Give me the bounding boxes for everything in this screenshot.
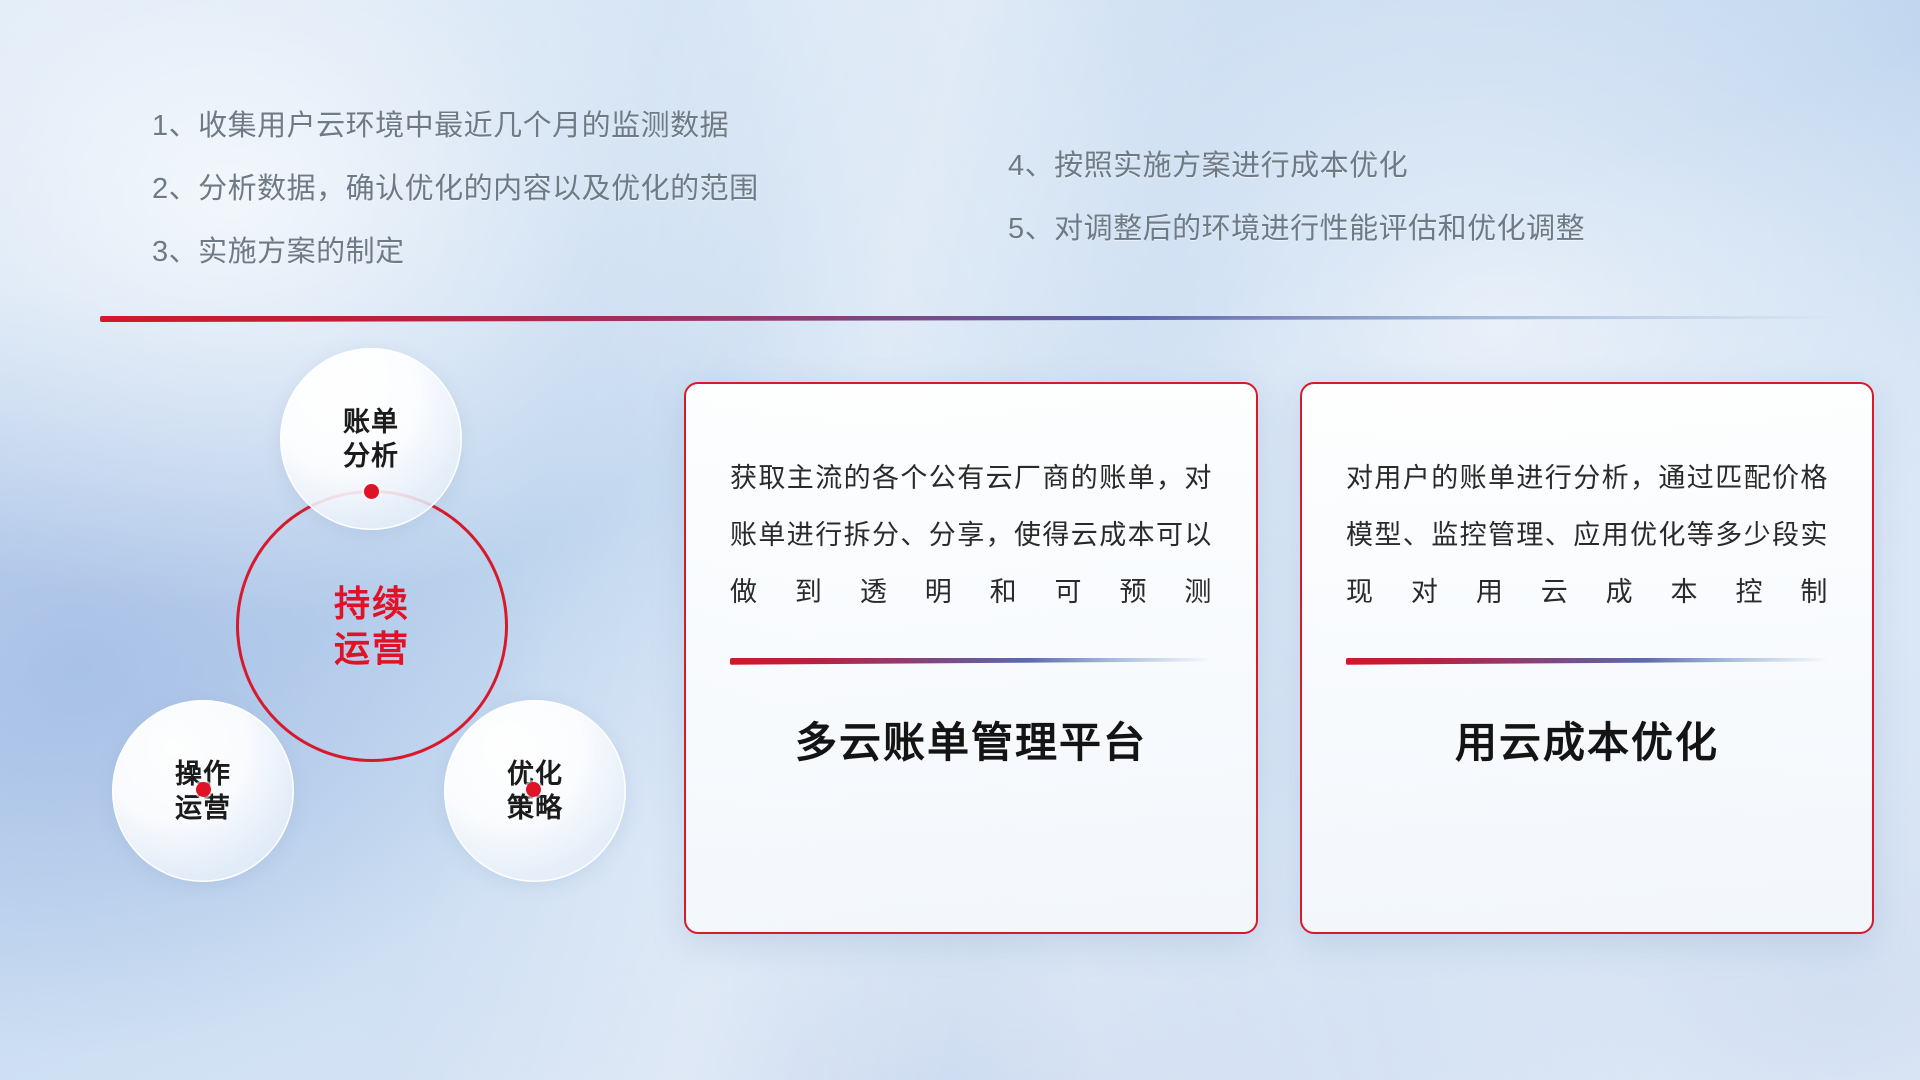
node-label-line1: 账单 bbox=[343, 405, 399, 439]
diagram-node-dot-left bbox=[196, 782, 211, 797]
continuous-operation-diagram: 持续 运营 账单 分析 操作 运营 优化 策略 bbox=[96, 348, 656, 948]
card-divider-rule bbox=[1346, 658, 1828, 665]
card-divider-rule bbox=[730, 658, 1212, 665]
slide-canvas: 1、收集用户云环境中最近几个月的监测数据 2、分析数据，确认优化的内容以及优化的… bbox=[0, 0, 1920, 1080]
step-item: 5、对调整后的环境进行性能评估和优化调整 bbox=[1008, 215, 1585, 244]
card-title: 用云成本优化 bbox=[1346, 709, 1828, 770]
steps-right-column: 4、按照实施方案进行成本优化 5、对调整后的环境进行性能评估和优化调整 bbox=[1008, 152, 1585, 278]
card-multi-cloud-billing[interactable]: 获取主流的各个公有云厂商的账单，对账单进行拆分、分享，使得云成本可以做到透明和可… bbox=[684, 382, 1258, 934]
card-title: 多云账单管理平台 bbox=[730, 709, 1212, 770]
header-divider-rule bbox=[100, 316, 1840, 322]
center-label-line1: 持续 bbox=[334, 581, 410, 626]
card-body-text: 对用户的账单进行分析，通过匹配价格模型、监控管理、应用优化等多少段实现对用云成本… bbox=[1346, 450, 1828, 622]
step-item: 3、实施方案的制定 bbox=[152, 238, 759, 267]
diagram-node-bill-analysis[interactable]: 账单 分析 bbox=[280, 348, 462, 530]
step-item: 4、按照实施方案进行成本优化 bbox=[1008, 152, 1585, 181]
step-item: 2、分析数据，确认优化的内容以及优化的范围 bbox=[152, 175, 759, 204]
diagram-center-label: 持续 运营 bbox=[236, 490, 508, 762]
steps-left-column: 1、收集用户云环境中最近几个月的监测数据 2、分析数据，确认优化的内容以及优化的… bbox=[152, 112, 759, 301]
step-item: 1、收集用户云环境中最近几个月的监测数据 bbox=[152, 112, 759, 141]
card-body-text: 获取主流的各个公有云厂商的账单，对账单进行拆分、分享，使得云成本可以做到透明和可… bbox=[730, 450, 1212, 622]
card-cloud-cost-optimization[interactable]: 对用户的账单进行分析，通过匹配价格模型、监控管理、应用优化等多少段实现对用云成本… bbox=[1300, 382, 1874, 934]
center-label-line2: 运营 bbox=[334, 626, 410, 671]
diagram-node-dot-right bbox=[526, 782, 541, 797]
diagram-node-dot-top bbox=[364, 484, 379, 499]
node-label-line2: 分析 bbox=[343, 439, 399, 473]
